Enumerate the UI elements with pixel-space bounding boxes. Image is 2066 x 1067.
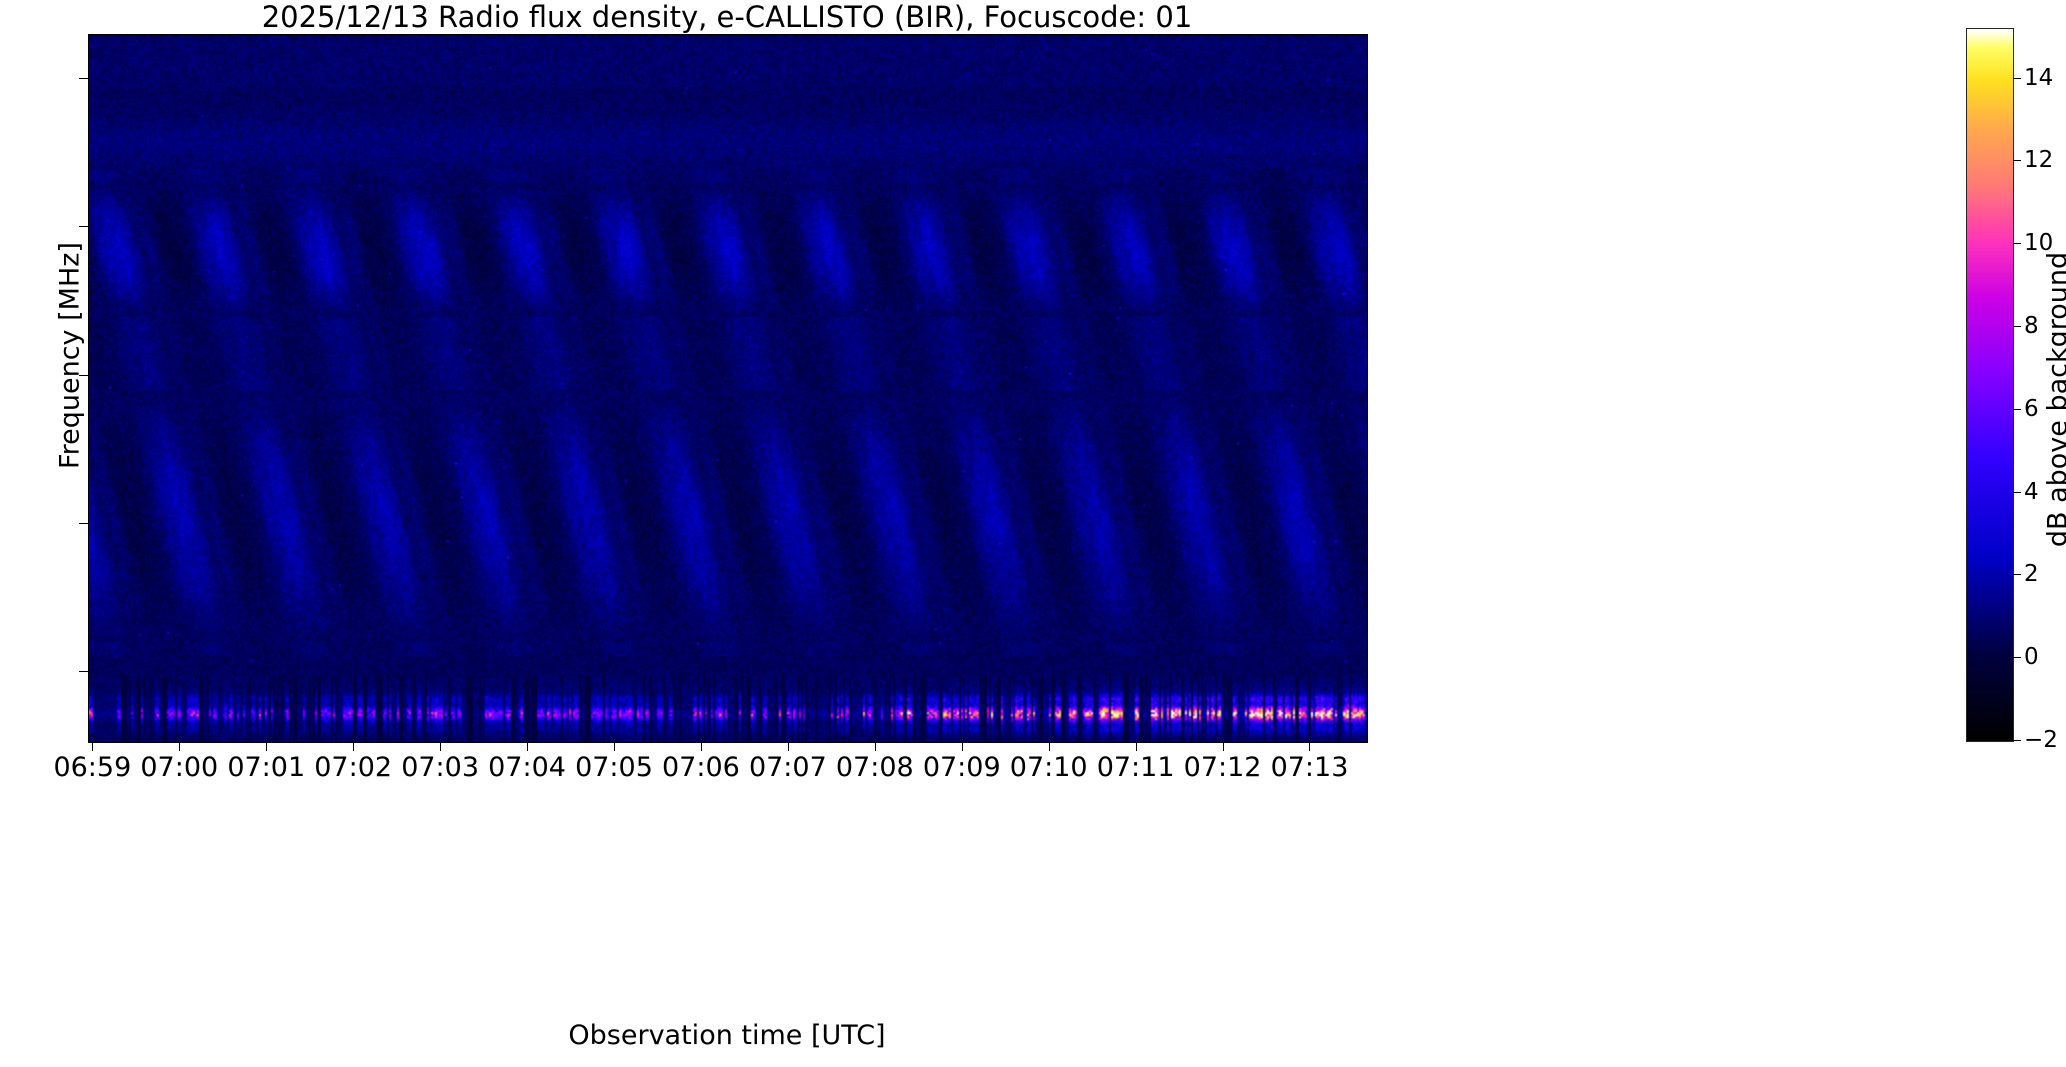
x-tick-mark [614, 742, 615, 751]
x-tick-mark [266, 742, 267, 751]
colorbar-tick-mark [2013, 78, 2021, 79]
colorbar-tick-label: 6 [2024, 396, 2039, 422]
colorbar-tick-mark [2013, 160, 2021, 161]
y-tick-mark [79, 523, 88, 524]
x-tick-mark [1223, 742, 1224, 751]
colorbar-tick-label: 2 [2024, 561, 2039, 587]
colorbar-gradient [1967, 29, 2013, 741]
colorbar-tick-mark [2013, 740, 2021, 741]
x-tick-mark [353, 742, 354, 751]
page-title: 2025/12/13 Radio flux density, e-CALLIST… [88, 0, 1366, 34]
spectrogram-image [89, 35, 1367, 742]
x-tick-mark [440, 742, 441, 751]
colorbar-tick-mark [2013, 574, 2021, 575]
x-tick-label: 07:13 [1239, 752, 1379, 783]
x-tick-mark [701, 742, 702, 751]
y-tick-mark [79, 226, 88, 227]
x-tick-mark [875, 742, 876, 751]
x-tick-mark [962, 742, 963, 751]
colorbar-tick-label: 8 [2024, 313, 2039, 339]
x-tick-mark [1136, 742, 1137, 751]
x-tick-mark [179, 742, 180, 751]
colorbar-tick-label: −2 [2024, 727, 2058, 753]
x-axis-label: Observation time [UTC] [88, 1020, 1366, 1051]
colorbar-tick-mark [2013, 657, 2021, 658]
colorbar-tick-mark [2013, 243, 2021, 244]
x-tick-mark [1049, 742, 1050, 751]
x-tick-mark [92, 742, 93, 751]
figure-canvas: 2025/12/13 Radio flux density, e-CALLIST… [0, 0, 2066, 1067]
x-tick-mark [1309, 742, 1310, 751]
colorbar-tick-mark [2013, 409, 2021, 410]
y-tick-mark [79, 375, 88, 376]
colorbar-tick-mark [2013, 492, 2021, 493]
x-tick-mark [527, 742, 528, 751]
y-axis-label: Frequency [MHz] [55, 46, 86, 666]
x-tick-mark [788, 742, 789, 751]
colorbar-tick-label: 14 [2024, 65, 2053, 91]
colorbar-tick-label: 4 [2024, 479, 2039, 505]
y-tick-mark [79, 78, 88, 79]
colorbar-tick-mark [2013, 326, 2021, 327]
colorbar-tick-label: 0 [2024, 644, 2039, 670]
y-tick-mark [79, 671, 88, 672]
spectrogram-plot[interactable] [88, 34, 1368, 743]
colorbar[interactable] [1966, 28, 2014, 742]
colorbar-label: dB above background [2043, 120, 2066, 680]
